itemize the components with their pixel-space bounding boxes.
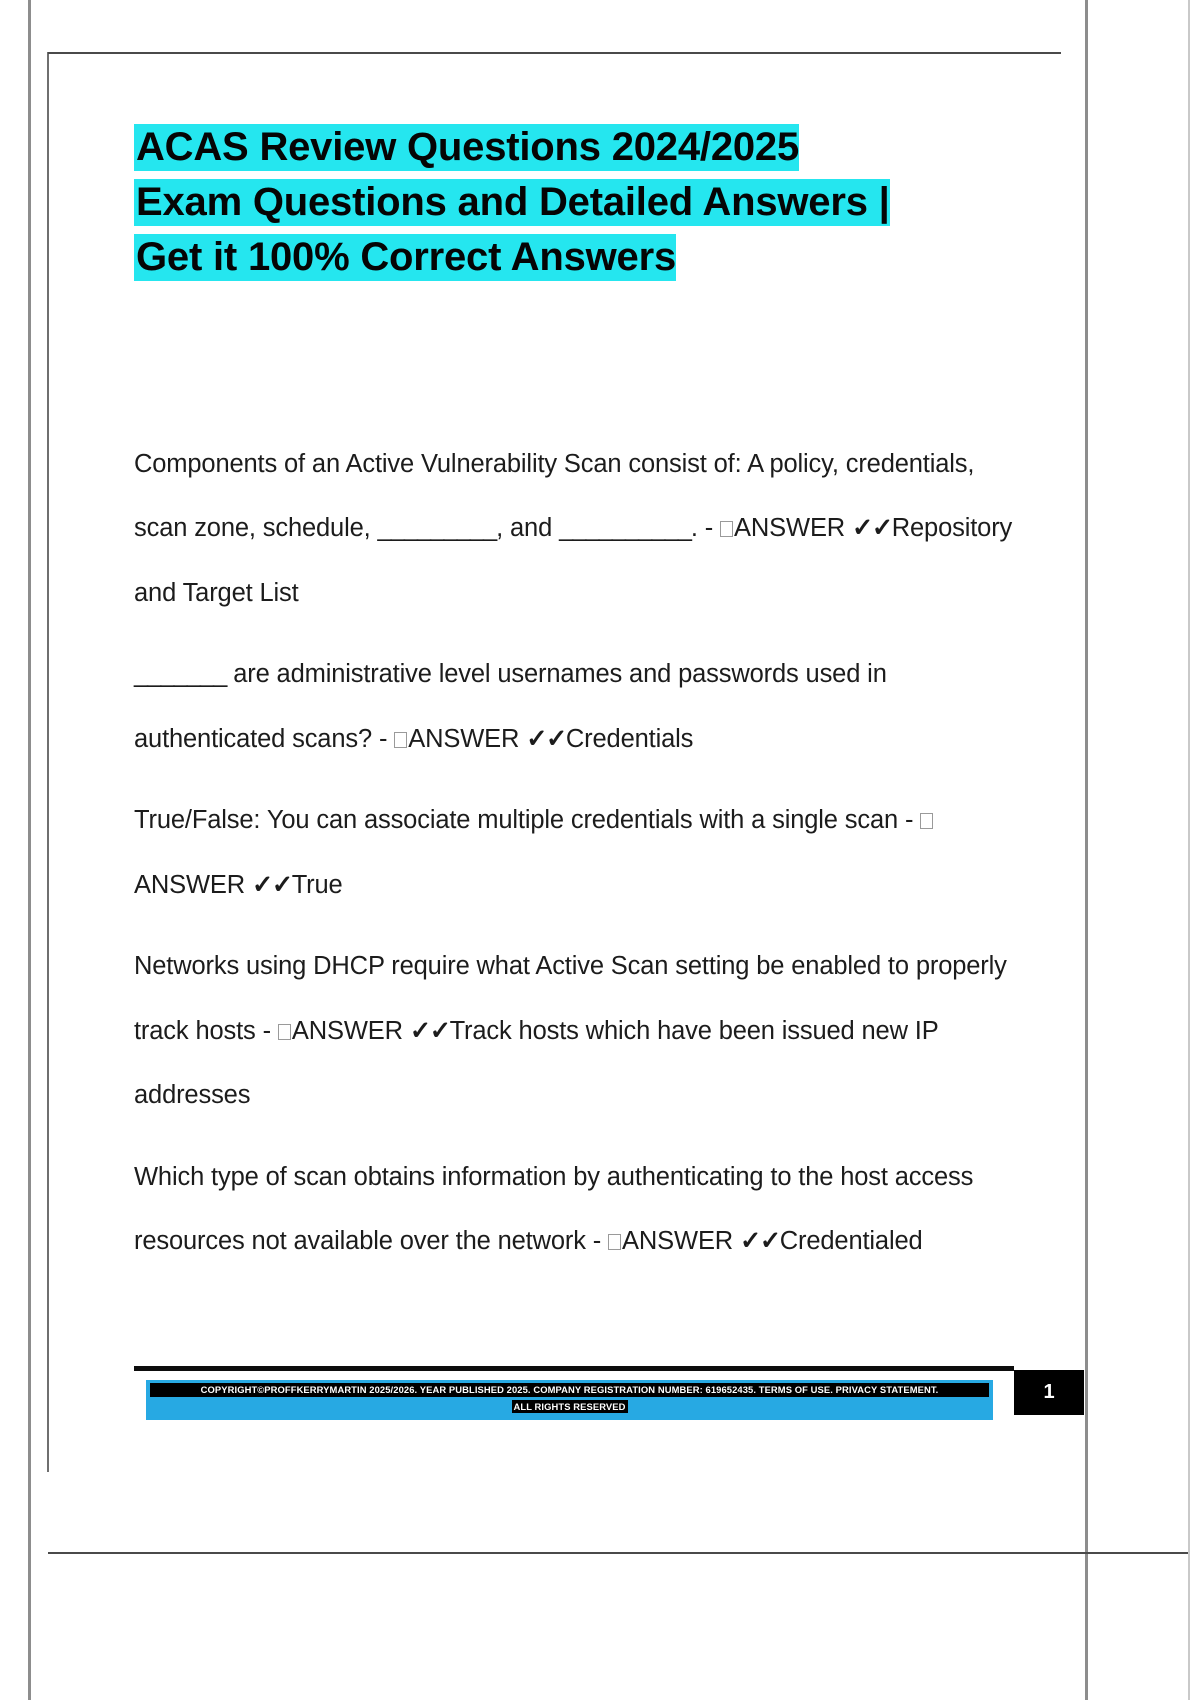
page-title: ACAS Review Questions 2024/2025 Exam Que… xyxy=(134,120,1014,286)
scanned-page: ACAS Review Questions 2024/2025 Exam Que… xyxy=(0,0,1200,1700)
answer-label-5: ANSWER xyxy=(622,1227,733,1255)
answer-text-3: True xyxy=(292,871,343,899)
missing-glyph-box-icon xyxy=(720,521,733,537)
footer-copyright-bar: COPYRIGHT©PROFFKERRYMARTIN 2025/2026. YE… xyxy=(146,1380,993,1420)
answer-label-2: ANSWER xyxy=(408,725,519,753)
footer-copyright-line-1: COPYRIGHT©PROFFKERRYMARTIN 2025/2026. YE… xyxy=(150,1383,989,1397)
title-line-2: Exam Questions and Detailed Answers | xyxy=(134,175,1014,230)
page-number: 1 xyxy=(1014,1370,1084,1415)
checkmark-icon-1: ✓✓ xyxy=(852,514,892,542)
qa-item-1: Components of an Active Vulnerability Sc… xyxy=(134,432,1014,626)
checkmark-icon-3: ✓✓ xyxy=(252,871,292,899)
answer-blank-1a: _________ xyxy=(378,514,497,542)
answer-label-4: ANSWER xyxy=(292,1017,403,1045)
answer-blank-1b: __________ xyxy=(559,514,691,542)
question-post-1: . - xyxy=(691,514,720,542)
missing-glyph-box-icon xyxy=(394,732,407,748)
question-mid-1: , and xyxy=(496,514,559,542)
qa-item-5: Which type of scan obtains information b… xyxy=(134,1145,1014,1274)
page-top-rule xyxy=(48,52,1061,54)
scan-edge-right xyxy=(1085,0,1088,1700)
document-body: ACAS Review Questions 2024/2025 Exam Que… xyxy=(134,120,1014,1274)
missing-glyph-box-icon xyxy=(608,1234,621,1250)
checkmark-icon-2: ✓✓ xyxy=(526,725,566,753)
missing-glyph-box-icon xyxy=(278,1024,291,1040)
answer-blank-2a: _______ xyxy=(134,660,226,688)
scan-edge-left xyxy=(28,0,31,1700)
footer-divider xyxy=(134,1366,1014,1371)
missing-glyph-box-icon xyxy=(920,813,933,829)
footer-copyright-line-2: ALL RIGHTS RESERVED xyxy=(512,1400,628,1414)
answer-text-2: Credentials xyxy=(566,725,693,753)
scan-edge-far-right xyxy=(1188,0,1190,1700)
answer-label-3: ANSWER xyxy=(134,871,245,899)
qa-item-3: True/False: You can associate multiple c… xyxy=(134,788,1014,917)
page-left-rail xyxy=(47,52,49,1472)
checkmark-icon-4: ✓✓ xyxy=(410,1017,450,1045)
qa-item-2: _______ are administrative level usernam… xyxy=(134,642,1014,771)
title-line-1: ACAS Review Questions 2024/2025 xyxy=(134,120,1014,175)
page-bottom-rule xyxy=(48,1552,1188,1554)
checkmark-icon-5: ✓✓ xyxy=(740,1227,780,1255)
title-line-3: Get it 100% Correct Answers xyxy=(134,230,1014,285)
qa-item-4: Networks using DHCP require what Active … xyxy=(134,934,1014,1128)
qa-list: Components of an Active Vulnerability Sc… xyxy=(134,432,1014,1274)
answer-label-1: ANSWER xyxy=(734,514,845,542)
question-text-3: True/False: You can associate multiple c… xyxy=(134,806,920,834)
answer-text-5: Credentialed xyxy=(780,1227,923,1255)
